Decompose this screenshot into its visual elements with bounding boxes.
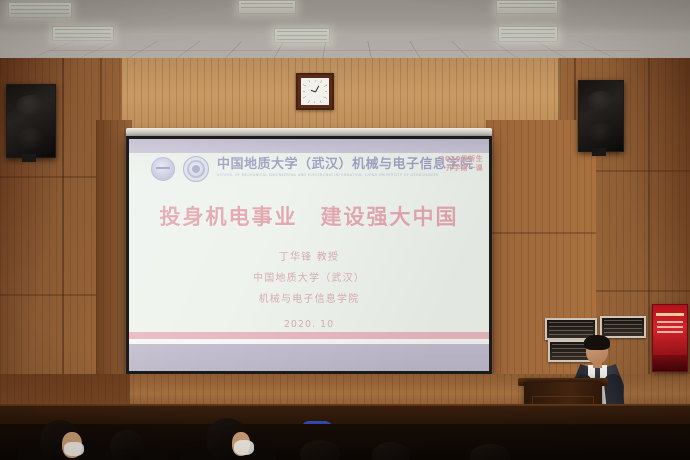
slide-university-name: 中国地质大学（武汉）机械与电子信息学院 bbox=[217, 157, 474, 172]
projection-screen: 中国地质大学（武汉）机械与电子信息学院 SCHOOL OF MECHANICAL… bbox=[126, 136, 492, 374]
wall-panel-seam bbox=[648, 58, 650, 408]
ceiling-shading bbox=[0, 0, 690, 62]
speaker-bracket-right bbox=[592, 148, 606, 156]
clock-ticks bbox=[303, 80, 327, 103]
slide-top-band bbox=[129, 139, 489, 153]
ceiling bbox=[0, 0, 690, 62]
wall-clock bbox=[296, 73, 334, 110]
face-mask bbox=[234, 440, 254, 455]
audience-head bbox=[110, 430, 144, 460]
presenter-glasses bbox=[587, 347, 607, 352]
slide-bottom-band bbox=[129, 344, 489, 371]
slide-body: 丁华锋 教授 中国地质大学（武汉） 机械与电子信息学院 2020. 10 bbox=[129, 247, 489, 335]
slide-body-line: 机械与电子信息学院 bbox=[129, 289, 489, 310]
wall-panel-seam bbox=[486, 232, 596, 234]
poster-footer bbox=[653, 355, 687, 371]
slide-title: 投身机电事业 建设强大中国 bbox=[129, 201, 489, 231]
face-mask bbox=[64, 442, 84, 456]
university-seal-logo-icon bbox=[151, 157, 175, 181]
slide-corner-tag-line1: 2020级新生 bbox=[440, 155, 483, 164]
clock-face bbox=[301, 78, 329, 105]
school-emblem-logo-icon bbox=[183, 156, 209, 182]
wall-speaker-left bbox=[6, 84, 56, 158]
presentation-slide: 中国地质大学（武汉）机械与电子信息学院 SCHOOL OF MECHANICAL… bbox=[129, 139, 489, 371]
slide-body-line: 丁华锋 教授 bbox=[129, 247, 489, 268]
wall-panel-seam bbox=[62, 58, 64, 408]
wall-speaker-right bbox=[578, 80, 624, 152]
slide-body-line: 中国地质大学（武汉） bbox=[129, 268, 489, 289]
wall-vent bbox=[600, 316, 646, 338]
speaker-bracket-left bbox=[22, 154, 36, 162]
slide-pink-stripe bbox=[129, 332, 489, 339]
slide-corner-tag-line2: 开学第一课 bbox=[440, 164, 483, 173]
slide-university-subline: SCHOOL OF MECHANICAL ENGINEERING AND ELE… bbox=[217, 173, 439, 178]
slide-corner-tag: 2020级新生 开学第一课 bbox=[440, 155, 483, 173]
red-promotional-poster bbox=[652, 304, 688, 372]
lecture-hall-photo: 中国地质大学（武汉）机械与电子信息学院 SCHOOL OF MECHANICAL… bbox=[0, 0, 690, 460]
